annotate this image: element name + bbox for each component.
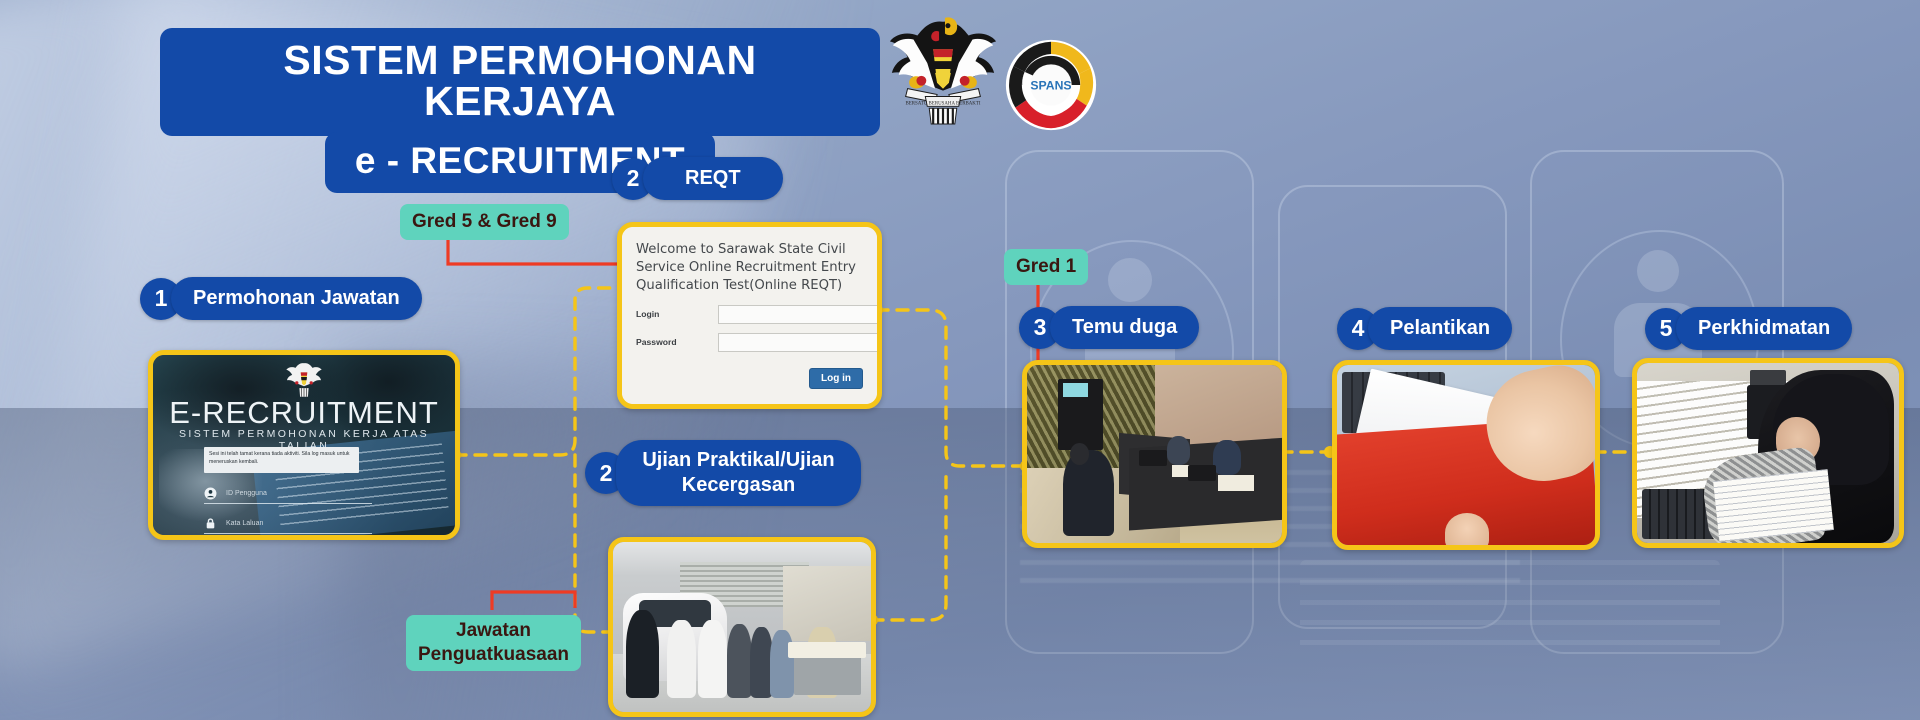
tag-gred-1: Gred 1 (1004, 249, 1088, 285)
practical-person-3 (698, 620, 726, 698)
infographic-canvas: SISTEM PERMOHONAN KERJAYA e - RECRUITMEN… (0, 0, 1920, 720)
step-4-label: Pelantikan (1368, 307, 1512, 350)
interview-candidate-body (1063, 450, 1114, 535)
reqt-button-row: Log in (636, 368, 863, 389)
title-line-1: SISTEM PERMOHONAN KERJAYA (160, 28, 880, 136)
tag-jawatan-line-2: Penguatkuasaan (418, 643, 569, 667)
background-avatar-head-1 (1108, 258, 1152, 302)
background-avatar-head-2 (1637, 250, 1679, 292)
photo-service (1637, 363, 1899, 543)
user-circle-icon (204, 487, 217, 500)
photo-interview (1027, 365, 1282, 543)
service-document (1713, 469, 1834, 542)
step-5-label: Perkhidmatan (1676, 307, 1852, 350)
reqt-login-input[interactable] (718, 305, 882, 324)
card-photo-interview[interactable] (1022, 360, 1287, 548)
step-3-temu-duga[interactable]: 3 Temu duga (1019, 306, 1199, 349)
step-1-permohonan-jawatan[interactable]: 1 Permohonan Jawatan (140, 277, 422, 320)
interview-panelist-1 (1167, 436, 1190, 464)
reqt-welcome-text: Welcome to Sarawak State Civil Service O… (636, 241, 863, 296)
card-reqt-login-form[interactable]: Welcome to Sarawak State Civil Service O… (617, 222, 882, 409)
interview-screen-glow (1063, 383, 1089, 397)
spans-logo-icon: SPANS (1004, 38, 1098, 132)
interview-panelist-2 (1213, 440, 1241, 476)
interview-paper-2 (1218, 475, 1254, 491)
reqt-password-input[interactable] (718, 333, 882, 352)
lock-icon (204, 517, 217, 530)
step-4-pelantikan[interactable]: 4 Pelantikan (1337, 307, 1512, 350)
tag-jawatan-line-1: Jawatan (418, 619, 569, 643)
step-1-label: Permohonan Jawatan (171, 277, 422, 320)
svg-text:BERSATU BERUSAHA BERBAKTI: BERSATU BERUSAHA BERBAKTI (906, 101, 981, 106)
step-5-perkhidmatan[interactable]: 5 Perkhidmatan (1645, 307, 1852, 350)
photo-job-offer-letter: RE: LETTER OF OFFER OF EMPLOYMENT JOB OF… (1337, 365, 1595, 545)
offer-thumb (1445, 513, 1489, 550)
reqt-login-row: Login (636, 305, 863, 324)
reqt-login-button[interactable]: Log in (809, 368, 863, 389)
erecruitment-crest-icon (284, 358, 324, 398)
card-photo-practical-test[interactable] (608, 537, 876, 717)
step-2-reqt[interactable]: 2 REQT (612, 157, 783, 200)
erecruitment-password-field[interactable]: Kata Laluan (204, 513, 372, 534)
erecruitment-title: E-RECRUITMENT (153, 397, 455, 428)
erecruitment-userid-placeholder: ID Pengguna (226, 490, 267, 497)
reqt-login-label: Login (636, 309, 718, 319)
erecruitment-password-placeholder: Kata Laluan (226, 520, 263, 527)
spans-logo-text: SPANS (1030, 79, 1071, 93)
practical-person-6 (770, 630, 793, 698)
interview-laptop-1 (1139, 450, 1167, 466)
practical-table-top (788, 642, 865, 657)
tag-jawatan-penguatkuasaan: Jawatan Penguatkuasaan (406, 615, 581, 671)
reqt-form-body: Welcome to Sarawak State Civil Service O… (622, 227, 877, 404)
step-2-ujian-label: Ujian Praktikal/Ujian Kecergasan (616, 440, 861, 506)
step-2-ujian-praktikal[interactable]: 2 Ujian Praktikal/Ujian Kecergasan (585, 440, 861, 506)
step-2-reqt-label: REQT (643, 157, 783, 200)
card-photo-service[interactable] (1632, 358, 1904, 548)
card-erecruitment-screenshot[interactable]: E-RECRUITMENT SISTEM PERMOHONAN KERJA AT… (148, 350, 460, 540)
reqt-password-label: Password (636, 337, 718, 347)
erecruitment-userid-field[interactable]: ID Pengguna (204, 483, 372, 504)
erecruitment-session-notice: Sesi ini telah tamat kerana tiada aktivi… (204, 447, 359, 473)
interview-laptop-2 (1188, 465, 1216, 481)
practical-person-1 (626, 610, 660, 698)
practical-person-2 (667, 620, 695, 698)
erecruitment-backdrop: E-RECRUITMENT SISTEM PERMOHONAN KERJA AT… (153, 355, 455, 535)
photo-practical-test (613, 542, 871, 712)
card-photo-job-offer-letter[interactable]: RE: LETTER OF OFFER OF EMPLOYMENT JOB OF… (1332, 360, 1600, 550)
reqt-password-row: Password (636, 333, 863, 352)
tag-gred-5-and-9: Gred 5 & Gred 9 (400, 204, 569, 240)
practical-person-4 (727, 624, 753, 699)
sarawak-state-crest-icon: BERSATU BERUSAHA BERBAKTI (884, 6, 1002, 126)
step-3-label: Temu duga (1050, 306, 1199, 349)
